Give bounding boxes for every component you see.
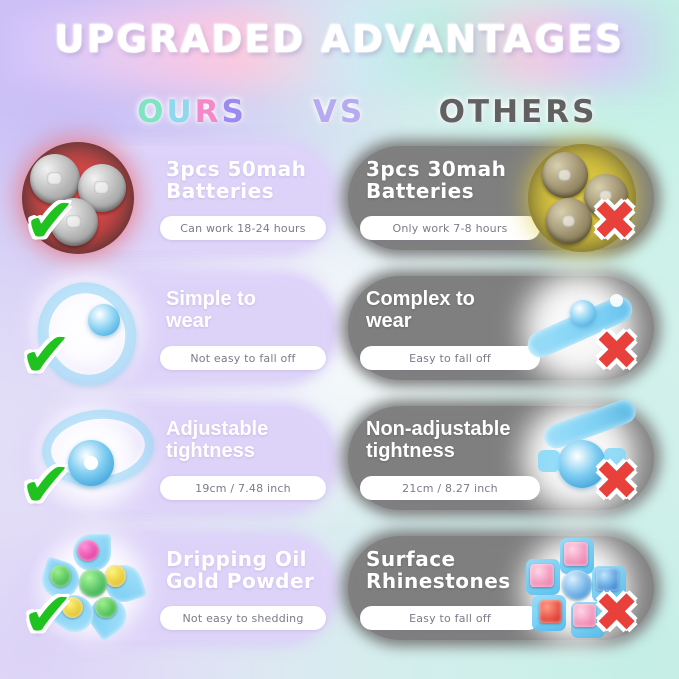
- ours-badge: Can work 18-24 hours: [160, 216, 326, 240]
- column-header-vs: VS: [300, 94, 378, 130]
- others-badge-text: Easy to fall off: [409, 612, 491, 625]
- comparison-row: 3pcs 50mah Batteries Can work 18-24 hour…: [0, 138, 679, 268]
- others-cross-icon: ✖: [592, 194, 637, 248]
- comparison-row: Dripping Oil Gold Powder Not easy to she…: [0, 528, 679, 658]
- others-badge-text: 21cm / 8.27 inch: [402, 482, 498, 495]
- others-cross-icon: ✖: [594, 454, 639, 508]
- others-badge: Easy to fall off: [360, 606, 540, 630]
- comparison-row: Simple to wear Not easy to fall off ✔ Co…: [0, 268, 679, 398]
- bracelet-hole: [610, 294, 623, 307]
- ours-badge-text: 19cm / 7.48 inch: [195, 482, 291, 495]
- others-cross-icon: ✖: [594, 586, 639, 640]
- ours-badge: 19cm / 7.48 inch: [160, 476, 326, 500]
- ours-badge: Not easy to shedding: [160, 606, 326, 630]
- battery-cell: [546, 198, 592, 244]
- others-badge-text: Only work 7-8 hours: [393, 222, 508, 235]
- rhinestone-pink-2: [573, 604, 596, 627]
- spinner-star-left: [538, 450, 560, 472]
- ours-headline: Simple to wear: [166, 288, 334, 333]
- rhinestone-center: [562, 570, 592, 600]
- ours-badge-text: Not easy to shedding: [183, 612, 304, 625]
- ours-letter-4: S: [222, 94, 247, 130]
- comparison-row: Adjustable tightness 19cm / 7.48 inch ✔ …: [0, 398, 679, 528]
- glitter-gem-yellow: [105, 565, 127, 587]
- ours-check-icon: ✔: [24, 190, 76, 252]
- battery-cell: [542, 152, 588, 198]
- glitter-gem-center: [79, 569, 106, 596]
- ours-check-icon: ✔: [20, 454, 72, 516]
- glitter-gem-green: [95, 597, 117, 619]
- bracelet-button: [570, 300, 596, 326]
- ours-letter-2: U: [166, 94, 194, 130]
- ours-letter-3: R: [195, 94, 222, 130]
- bracelet-button: [88, 304, 120, 336]
- rhinestone-pink-3: [530, 564, 553, 587]
- ours-headline: Adjustable tightness: [166, 418, 334, 463]
- ours-letter-1: O: [137, 94, 166, 130]
- ours-badge-text: Can work 18-24 hours: [180, 222, 305, 235]
- rhinestone-pink: [564, 542, 587, 565]
- others-badge: Only work 7-8 hours: [360, 216, 540, 240]
- ours-badge-text: Not easy to fall off: [190, 352, 295, 365]
- others-badge-text: Easy to fall off: [409, 352, 491, 365]
- column-header-ours: OURS: [122, 94, 262, 130]
- ours-headline: Dripping Oil Gold Powder: [166, 548, 334, 593]
- spinner-core: [84, 456, 98, 470]
- page-title: UPGRADED ADVANTAGES: [0, 18, 679, 61]
- ours-badge: Not easy to fall off: [160, 346, 326, 370]
- others-cross-icon: ✖: [594, 324, 639, 378]
- column-header-others: OTHERS: [418, 94, 618, 130]
- ours-check-icon: ✔: [20, 324, 72, 386]
- comparison-infographic: UPGRADED ADVANTAGES OURS VS OTHERS 3pcs …: [0, 0, 679, 679]
- ours-check-icon: ✔: [22, 584, 74, 646]
- rhinestone-red: [539, 600, 562, 623]
- comparison-rows: 3pcs 50mah Batteries Can work 18-24 hour…: [0, 138, 679, 658]
- ours-headline: 3pcs 50mah Batteries: [166, 158, 334, 203]
